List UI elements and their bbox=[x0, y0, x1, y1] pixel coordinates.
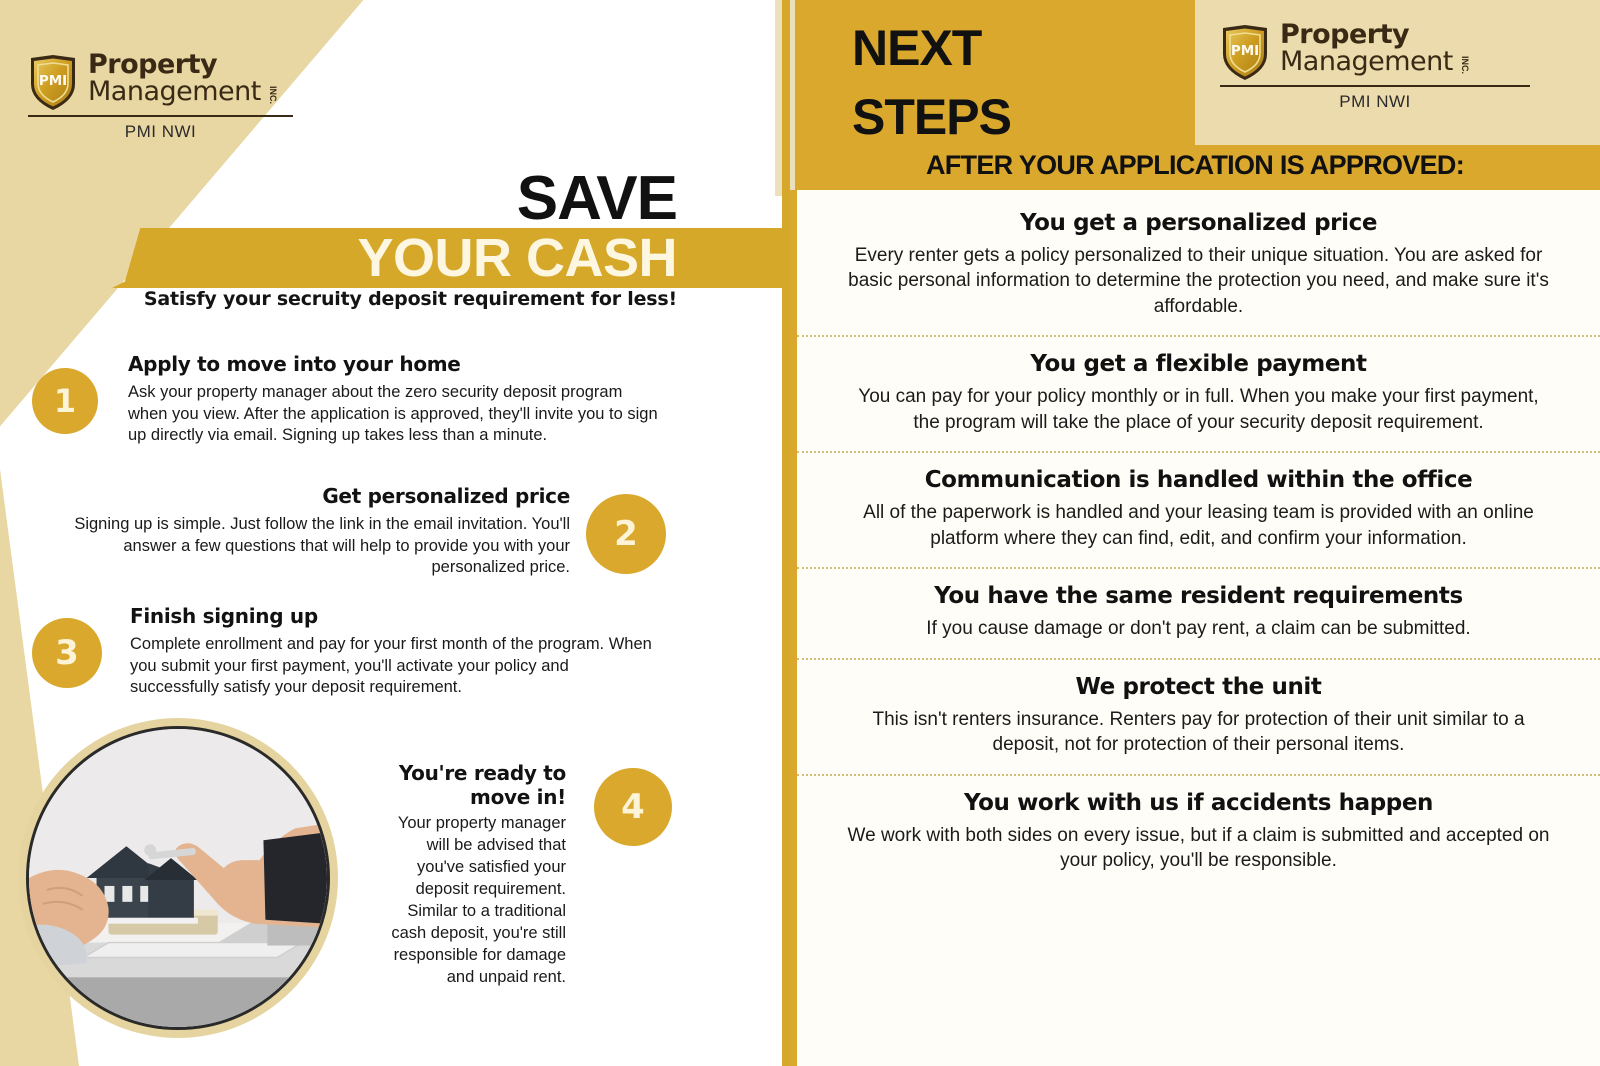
step-title: Finish signing up bbox=[130, 604, 660, 628]
item-body: All of the paperwork is handled and your… bbox=[819, 500, 1578, 551]
svg-text:PMI: PMI bbox=[39, 73, 67, 89]
after-approval-subtitle: AFTER YOUR APPLICATION IS APPROVED: bbox=[790, 150, 1600, 181]
step-body: Ask your property manager about the zero… bbox=[128, 382, 658, 447]
next-steps-title-line1: NEXT bbox=[852, 14, 1011, 83]
next-steps-title: NEXT STEPS bbox=[852, 14, 1011, 152]
item-body: This isn't renters insurance. Renters pa… bbox=[819, 707, 1578, 758]
svg-text:PMI: PMI bbox=[1231, 43, 1259, 59]
list-item: You get a flexible payment You can pay f… bbox=[797, 335, 1600, 451]
item-body: Every renter gets a policy personalized … bbox=[819, 243, 1578, 319]
list-item: You work with us if accidents happen We … bbox=[797, 774, 1600, 890]
logo-word-management: Management bbox=[1280, 48, 1453, 76]
panel-divider-gold-strip bbox=[782, 0, 790, 1066]
logo-word-property: Property bbox=[1280, 22, 1453, 48]
list-item: We protect the unit This isn't renters i… bbox=[797, 658, 1600, 774]
logo-franchise-name: PMI NWI bbox=[28, 122, 293, 142]
headline-save: SAVE bbox=[0, 168, 790, 230]
item-body: You can pay for your policy monthly or i… bbox=[819, 384, 1578, 435]
step-title: You're ready to move in! bbox=[376, 762, 566, 809]
step-title: Apply to move into your home bbox=[128, 352, 658, 376]
item-heading: Communication is handled within the offi… bbox=[819, 467, 1578, 493]
logo-word-property: Property bbox=[88, 52, 261, 78]
step-item-1: Apply to move into your home Ask your pr… bbox=[128, 352, 658, 447]
step-item-4: You're ready to move in! Your property m… bbox=[376, 762, 566, 989]
logo-word-management: Management bbox=[88, 78, 261, 106]
step-body: Complete enrollment and pay for your fir… bbox=[130, 634, 660, 699]
flyer-page: PMI Property Management INC. PMI NWI SAV… bbox=[0, 0, 1600, 1066]
step-number-badge-4: 4 bbox=[594, 768, 672, 846]
step-item-3: Finish signing up Complete enrollment an… bbox=[130, 604, 660, 699]
step-body: Your property manager will be advised th… bbox=[376, 813, 566, 989]
step-number-badge-3: 3 bbox=[32, 618, 102, 688]
right-panel-next-steps: NEXT STEPS PMI bbox=[790, 0, 1600, 1066]
item-heading: We protect the unit bbox=[819, 674, 1578, 700]
step-title: Get personalized price bbox=[60, 484, 570, 508]
item-body: If you cause damage or don't pay rent, a… bbox=[819, 616, 1578, 641]
brand-logo-right: PMI Property Management INC. PMI NWI bbox=[1220, 22, 1530, 112]
next-steps-list: You get a personalized price Every rente… bbox=[797, 196, 1600, 889]
logo-inc-mark: INC. bbox=[1460, 56, 1469, 74]
logo-divider-rule bbox=[28, 115, 293, 117]
item-heading: You get a personalized price bbox=[819, 210, 1578, 236]
handshake-key-house-photo bbox=[26, 726, 330, 1030]
logo-inc-mark: INC. bbox=[268, 86, 277, 104]
item-heading: You work with us if accidents happen bbox=[819, 790, 1578, 816]
step-number-badge-2: 2 bbox=[586, 494, 666, 574]
item-heading: You get a flexible payment bbox=[819, 351, 1578, 377]
logo-divider-rule bbox=[1220, 85, 1530, 87]
right-panel-left-gold-strip bbox=[790, 190, 797, 1066]
step-number-badge-1: 1 bbox=[32, 368, 98, 434]
logo-franchise-name: PMI NWI bbox=[1220, 92, 1530, 112]
list-item: Communication is handled within the offi… bbox=[797, 451, 1600, 567]
next-steps-title-line2: STEPS bbox=[852, 83, 1011, 152]
left-panel-save-your-cash: PMI Property Management INC. PMI NWI SAV… bbox=[0, 0, 790, 1066]
subheadline: Satisfy your secruity deposit requiremen… bbox=[0, 288, 790, 310]
step-body: Signing up is simple. Just follow the li… bbox=[60, 514, 570, 579]
item-heading: You have the same resident requirements bbox=[819, 583, 1578, 609]
item-body: We work with both sides on every issue, … bbox=[819, 823, 1578, 874]
step-item-2: Get personalized price Signing up is sim… bbox=[60, 484, 570, 579]
brand-logo-left: PMI Property Management INC. PMI NWI bbox=[28, 52, 293, 142]
pmi-shield-icon: PMI bbox=[28, 54, 78, 112]
pmi-shield-icon: PMI bbox=[1220, 24, 1270, 82]
photo-illustration bbox=[29, 729, 327, 1027]
headline-your-cash: YOUR CASH bbox=[0, 231, 790, 285]
list-item: You get a personalized price Every rente… bbox=[797, 196, 1600, 335]
list-item: You have the same resident requirements … bbox=[797, 567, 1600, 657]
